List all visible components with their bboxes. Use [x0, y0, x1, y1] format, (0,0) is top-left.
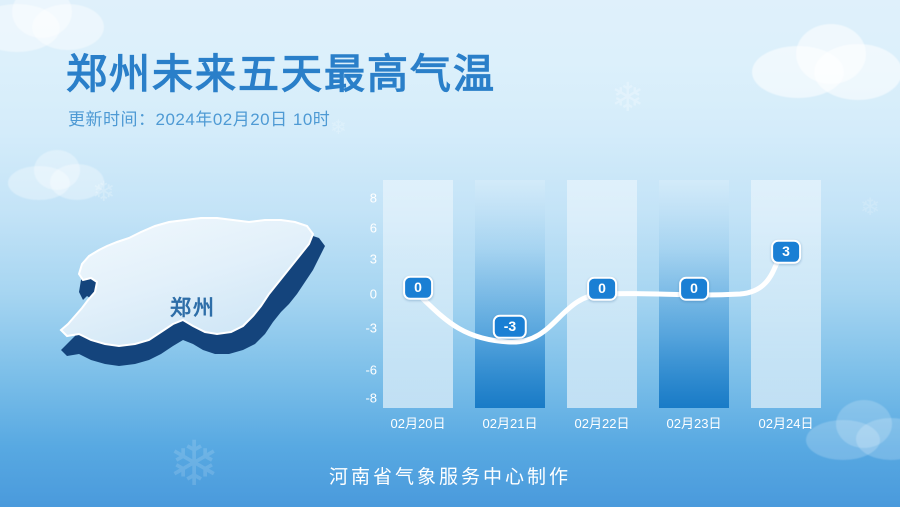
data-point-badge: -3 [493, 315, 527, 339]
data-point-badge: 3 [771, 240, 801, 264]
weather-forecast-poster: ❄ ❄ ❄ ❄ ❄ 郑州未来五天最高气温 更新时间：2024年02月20日 10… [0, 0, 900, 507]
snowflake-icon-5: ❄ [860, 196, 880, 220]
update-time-text: 更新时间：2024年02月20日 10时 [68, 105, 330, 130]
snowflake-icon-2: ❄ [92, 178, 115, 206]
data-point-badge: 0 [403, 276, 433, 300]
page-title: 郑州未来五天最高气温 [66, 40, 496, 100]
snowflake-icon-4: ❄ [330, 118, 347, 138]
temperature-chart: 8 6 3 0 -3 -6 -8 02月20日 02月21日 02月22日 02… [355, 170, 845, 420]
cloud-icon-mid-left [8, 148, 104, 200]
footer-credit: 河南省气象服务中心制作 [0, 462, 900, 489]
map-city-label: 郑州 [170, 292, 216, 322]
data-point-badge: 0 [679, 277, 709, 301]
data-point-badge: 0 [587, 277, 617, 301]
cloud-icon-top-right [752, 6, 900, 92]
snowflake-icon-1: ❄ [611, 78, 645, 118]
